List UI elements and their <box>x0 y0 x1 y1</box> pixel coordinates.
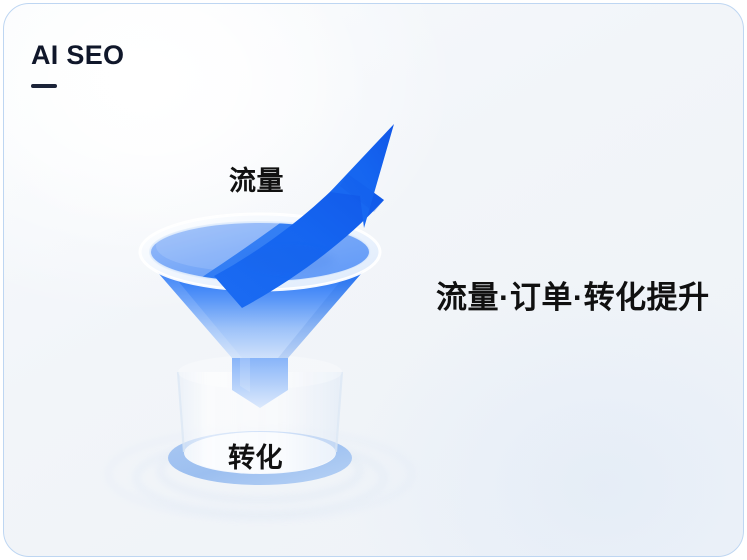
brand-block: AI SEO <box>31 42 291 88</box>
headline-text: 流量·订单·转化提升 <box>436 279 710 316</box>
screenshot-canvas: AI SEO 流量·订单·转化提升 <box>0 0 747 560</box>
title-underline-rule <box>31 84 57 88</box>
funnel-label-traffic: 流量 <box>229 159 284 198</box>
promo-card: AI SEO 流量·订单·转化提升 <box>3 3 744 557</box>
funnel-label-conversion: 转化 <box>228 436 283 475</box>
page-title: AI SEO <box>31 42 291 69</box>
